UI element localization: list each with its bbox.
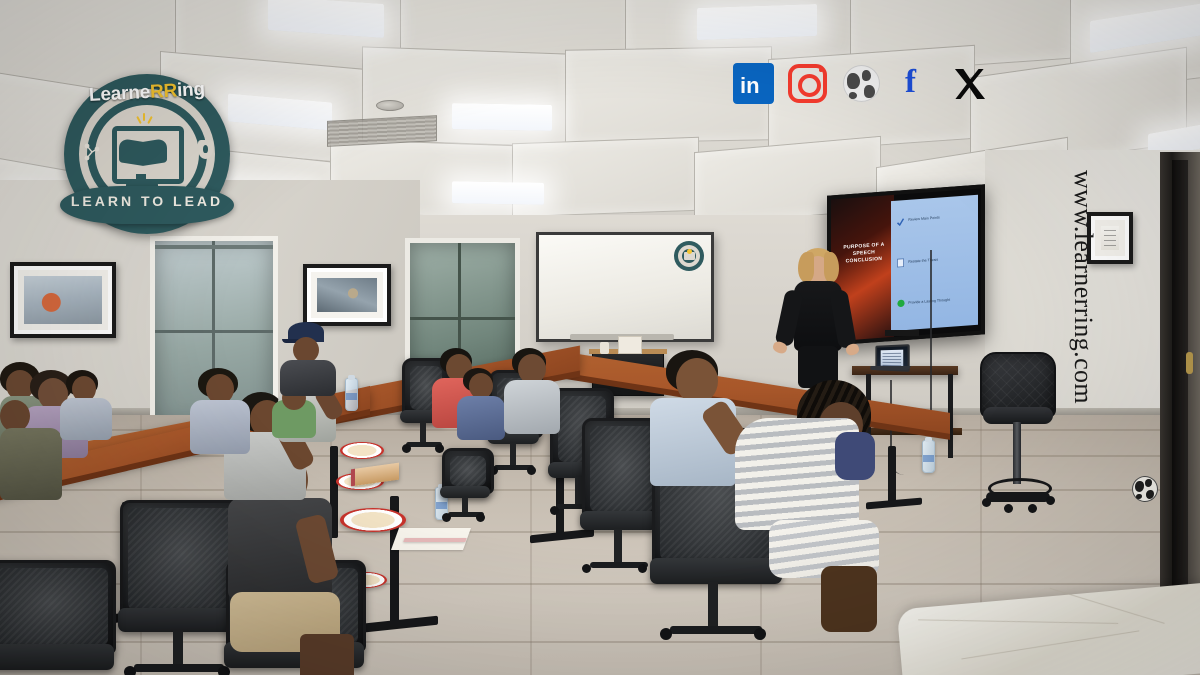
open-book-icon (119, 138, 143, 166)
checkmark-icon (896, 217, 905, 227)
student-torso (504, 380, 560, 434)
framed-helicopter-photo (10, 262, 116, 338)
pencil-cup (600, 342, 609, 354)
student (735, 380, 885, 630)
student-torso (457, 396, 505, 440)
whiteboard-logo-sticker (674, 241, 704, 271)
website-url-watermark: www.learnerring.com (1058, 170, 1098, 500)
x-twitter-icon[interactable] (949, 63, 990, 104)
tissue-box (618, 336, 642, 354)
student-torso (190, 400, 250, 454)
student (0, 400, 64, 500)
power-cable (930, 250, 962, 430)
office-chair[interactable] (440, 448, 490, 526)
adult-with-cap (280, 322, 338, 394)
globe-icon[interactable] (841, 63, 882, 104)
student-leg-lower (300, 634, 354, 675)
smoke-detector (376, 100, 404, 111)
office-chair[interactable] (0, 560, 114, 675)
green-dot-icon (896, 299, 905, 309)
learnerring-logo: LearneRRing LEARN TO LEAD (64, 74, 230, 234)
table-leg (888, 446, 896, 504)
student-torso (0, 428, 62, 500)
led-light-panel (452, 103, 552, 131)
door-opening (1172, 160, 1188, 615)
student (188, 368, 258, 454)
student (457, 368, 509, 440)
presenter (772, 248, 862, 388)
classroom-photo: PURPOSE OF A SPEECH CONCLUSION Review Ma… (0, 0, 1200, 675)
open-book-icon (143, 138, 167, 166)
shield-icon (198, 140, 213, 159)
slide-bullet-1: Review Main Points (896, 211, 976, 226)
door-handle[interactable] (1186, 352, 1193, 374)
student-leg-lower (821, 566, 877, 632)
facebook-icon[interactable]: f (895, 63, 936, 104)
logo-tagline: LEARN TO LEAD (64, 193, 230, 209)
framed-osprey-aircraft-photo (303, 264, 391, 326)
social-bar: in f (733, 58, 991, 108)
office-chair[interactable] (580, 418, 658, 588)
student (58, 370, 118, 440)
napkin (403, 538, 466, 542)
whiteboard (536, 232, 714, 342)
student (504, 348, 562, 434)
drafting-stool[interactable] (980, 352, 1060, 504)
laptop-keyboard[interactable] (869, 366, 911, 370)
water-bottle (922, 440, 935, 473)
share-node-icon (84, 142, 100, 162)
globe-icon (1132, 476, 1158, 502)
instagram-icon[interactable] (787, 63, 828, 104)
presenter-hair (824, 252, 839, 282)
led-light-panel (452, 181, 544, 205)
student-torso (60, 398, 112, 440)
document-icon (896, 259, 905, 269)
presenter-hair (798, 252, 814, 282)
student-arm (835, 432, 875, 480)
tv-mount (885, 330, 919, 336)
linkedin-icon[interactable]: in (733, 63, 774, 104)
adult-torso (280, 360, 336, 396)
led-light-panel (697, 4, 817, 40)
